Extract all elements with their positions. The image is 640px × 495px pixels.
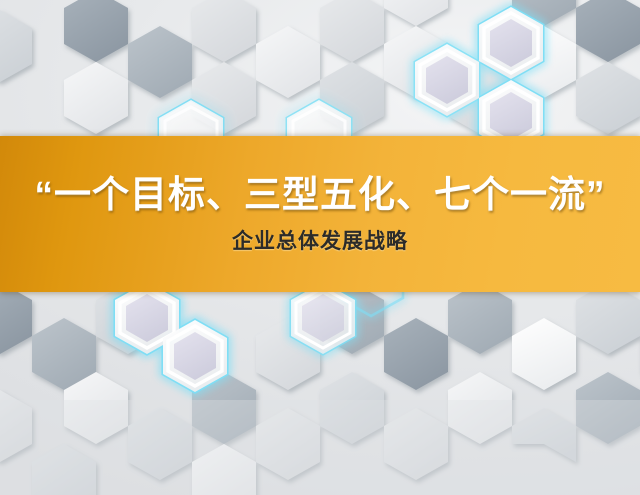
title-banner: “一个目标、三型五化、七个一流” 企业总体发展战略 [0, 136, 640, 292]
page-subtitle: 企业总体发展战略 [232, 230, 408, 253]
slide-canvas: “一个目标、三型五化、七个一流” 企业总体发展战略 [0, 0, 640, 495]
page-title: “一个目标、三型五化、七个一流” [35, 175, 606, 216]
